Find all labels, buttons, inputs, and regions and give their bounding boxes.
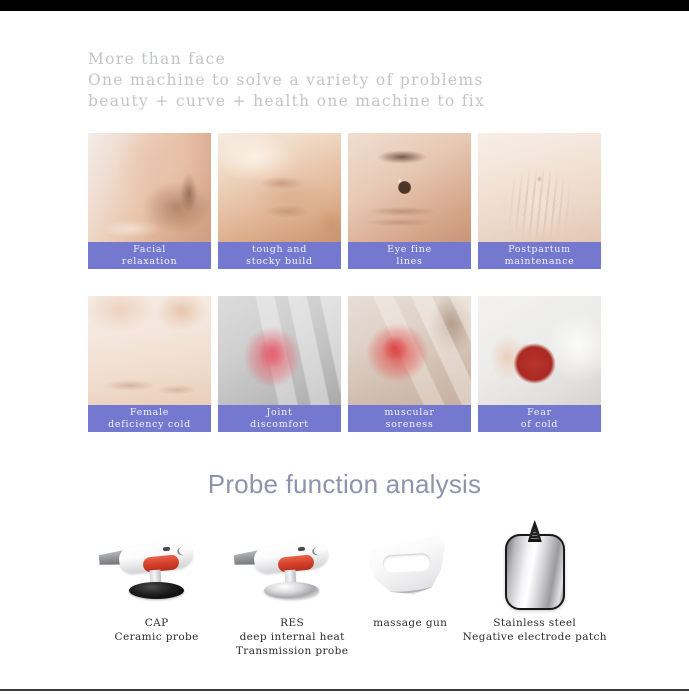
- electrode-patch-plate: [505, 534, 565, 610]
- benefit-caption: Postpartum maintenance: [478, 242, 601, 269]
- benefit-caption: Eye fine lines: [348, 242, 471, 269]
- probe-art-electrode-patch: [498, 516, 572, 616]
- probe-item-electrode-patch[interactable]: Stainless steel Negative electrode patch: [462, 516, 608, 644]
- benefit-caption: Female deficiency cold: [88, 405, 211, 432]
- headline-line-3: beauty + curve + health one machine to f…: [88, 91, 608, 112]
- photo-female-abdomen: [88, 296, 211, 405]
- letterbox-top-bar: [0, 0, 689, 11]
- photo-knee-pain: [218, 296, 341, 405]
- probe-label-res: RES deep internal heat Transmission prob…: [236, 616, 349, 658]
- probe-label-line-2: Negative electrode patch: [463, 630, 607, 644]
- headline-line-1: More than face: [88, 49, 608, 70]
- probe-item-massage-gun[interactable]: massage gun: [359, 516, 462, 630]
- caption-line-1: muscular: [384, 407, 434, 420]
- probe-label-line-2: deep internal heat: [236, 630, 349, 644]
- photo-eye-wrinkles: [348, 133, 471, 242]
- probe-label-cap: CAP Ceramic probe: [115, 616, 199, 644]
- benefit-caption: Joint discomfort: [218, 405, 341, 432]
- caption-line-2: discomfort: [250, 419, 309, 432]
- caption-line-1: tough and: [252, 244, 307, 257]
- photo-postpartum-stretch-marks: [478, 133, 601, 242]
- headline-block: More than face One machine to solve a va…: [88, 49, 608, 112]
- probe-disc-black: [129, 582, 184, 599]
- gua-sha-edge: [373, 569, 446, 595]
- probe-grip: [277, 554, 314, 573]
- benefit-grid-row-1: Facial relaxation tough and stocky build…: [88, 133, 602, 269]
- benefit-caption: Facial relaxation: [88, 242, 211, 269]
- photo-face-close-up: [88, 133, 211, 242]
- caption-line-1: Postpartum: [508, 244, 571, 257]
- caption-line-2: soreness: [386, 419, 434, 432]
- caption-line-1: Joint: [266, 407, 292, 420]
- probe-label-line-1: RES: [236, 616, 349, 630]
- probe-label-line-2: Ceramic probe: [115, 630, 199, 644]
- handheld-probe-icon: [97, 520, 217, 612]
- benefit-tile-female-deficiency-cold[interactable]: Female deficiency cold: [88, 296, 211, 432]
- caption-line-2: of cold: [521, 419, 558, 432]
- benefit-tile-joint-discomfort[interactable]: Joint discomfort: [218, 296, 341, 432]
- handheld-probe-icon: [232, 520, 352, 612]
- letterbox-bottom-fill: [0, 691, 689, 700]
- photo-shoulder-pain: [348, 296, 471, 405]
- probe-art-massage-gun: [367, 516, 453, 616]
- benefit-tile-muscular-soreness[interactable]: muscular soreness: [348, 296, 471, 432]
- benefit-tile-fear-of-cold[interactable]: Fear of cold: [478, 296, 601, 432]
- benefit-caption: Fear of cold: [478, 405, 601, 432]
- probe-disc-silver: [264, 582, 319, 599]
- probe-item-res-transmission[interactable]: RES deep internal heat Transmission prob…: [225, 516, 359, 658]
- caption-line-1: Fear: [527, 407, 552, 420]
- benefit-tile-postpartum-maintenance[interactable]: Postpartum maintenance: [478, 133, 601, 269]
- probe-label-line-1: Stainless steel: [463, 616, 607, 630]
- benefit-caption: tough and stocky build: [218, 242, 341, 269]
- infographic-canvas: More than face One machine to solve a va…: [0, 11, 689, 689]
- probe-label-line-1: massage gun: [373, 616, 447, 630]
- gua-sha-tool-icon: [366, 533, 455, 599]
- probe-label-electrode-patch: Stainless steel Negative electrode patch: [463, 616, 607, 644]
- section-heading-probe-function-analysis: Probe function analysis: [0, 469, 689, 500]
- probe-label-line-1: CAP: [115, 616, 199, 630]
- benefit-caption: muscular soreness: [348, 405, 471, 432]
- caption-line-1: Eye fine: [387, 244, 432, 257]
- probe-item-cap-ceramic[interactable]: CAP Ceramic probe: [88, 516, 225, 644]
- probe-grip: [142, 554, 179, 573]
- caption-line-1: Female: [130, 407, 169, 420]
- benefit-tile-stocky-build[interactable]: tough and stocky build: [218, 133, 341, 269]
- probe-button-icon: [162, 547, 169, 552]
- headline-line-2: One machine to solve a variety of proble…: [88, 70, 608, 91]
- electrode-patch-icon: [498, 518, 572, 614]
- caption-line-2: stocky build: [246, 256, 313, 269]
- photo-abdomen-fat-fold: [218, 133, 341, 242]
- caption-line-2: maintenance: [505, 256, 575, 269]
- caption-line-2: deficiency cold: [108, 419, 191, 432]
- photo-hot-water-bottle: [478, 296, 601, 405]
- probe-function-row: CAP Ceramic probe RES deep internal h: [88, 516, 608, 658]
- benefit-grid-row-2: Female deficiency cold Joint discomfort …: [88, 296, 602, 432]
- caption-line-2: relaxation: [122, 256, 178, 269]
- probe-label-line-3: Transmission probe: [236, 644, 349, 658]
- probe-label-massage-gun: massage gun: [373, 616, 447, 630]
- probe-art-res: [232, 516, 352, 616]
- benefit-tile-facial-relaxation[interactable]: Facial relaxation: [88, 133, 211, 269]
- caption-line-2: lines: [396, 256, 422, 269]
- probe-art-cap: [97, 516, 217, 616]
- benefit-tile-eye-fine-lines[interactable]: Eye fine lines: [348, 133, 471, 269]
- caption-line-1: Facial: [133, 244, 166, 257]
